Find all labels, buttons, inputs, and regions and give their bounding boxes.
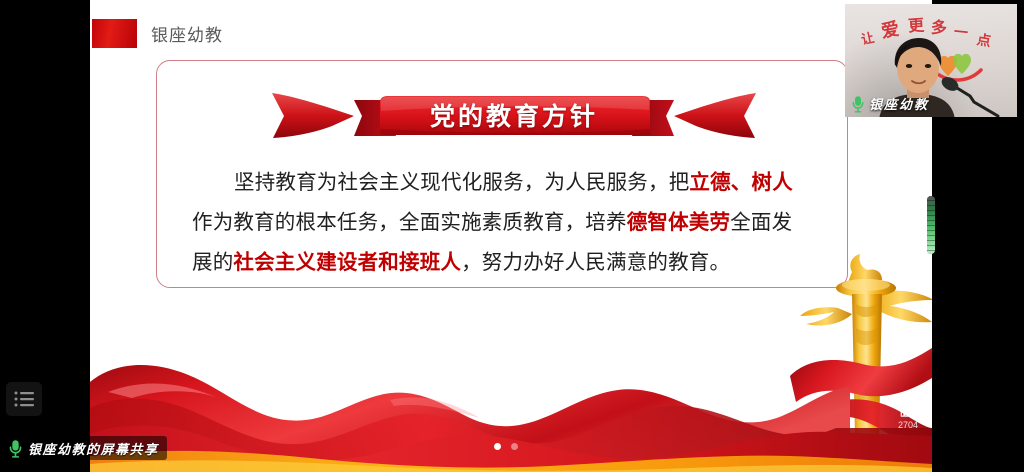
screen-share-viewport: 银座幼教 <box>0 0 1024 472</box>
screen-share-label-text: 银座幼教的屏幕共享 <box>28 439 159 458</box>
participant-video-tile[interactable]: 让 爱 更 多 一 点 <box>845 4 1017 117</box>
slide-body-paragraph: 坚持教育为社会主义现代化服务，为人民服务，把立德、树人作为教育的根本任务，全面实… <box>192 162 812 282</box>
microphone-icon <box>851 95 865 113</box>
participant-name-overlay: 银座幼教 <box>851 94 929 113</box>
slogan-char-4: 多 <box>930 14 947 39</box>
pagination-dots[interactable] <box>494 441 540 451</box>
red-block-logo-icon <box>92 19 137 48</box>
red-ribbon-wave <box>90 365 932 472</box>
stage-microphone-icon <box>940 74 1010 117</box>
body-segment-3: 作为教育的根本任务，全面实施素质教育，培养 <box>192 210 627 234</box>
slide-brand-row: 银座幼教 <box>92 18 223 48</box>
orange-gradient-band <box>90 451 932 472</box>
body-segment-2-highlight: 立德、树人 <box>689 170 793 194</box>
like-count: 2704 <box>885 420 931 431</box>
slide-title: 党的教育方针 <box>270 104 758 129</box>
body-segment-4-highlight: 德智体美劳 <box>627 210 731 234</box>
slogan-char-3: 更 <box>907 11 925 36</box>
list-menu-icon[interactable] <box>6 382 42 416</box>
title-ribbon-banner: 党的教育方针 <box>270 86 758 144</box>
shared-slide: 银座幼教 <box>90 0 932 472</box>
body-segment-7: ，努力办好人民满意的教育。 <box>461 250 730 274</box>
slide-brand-label: 银座幼教 <box>151 21 223 46</box>
like-widget[interactable]: 2704 <box>885 400 931 431</box>
screen-share-label: 银座幼教的屏幕共享 <box>4 436 167 460</box>
red-ribbon-wrap <box>790 348 932 450</box>
pagination-dot-2[interactable] <box>511 443 518 450</box>
audio-level-meter <box>927 196 935 254</box>
thumbs-up-icon[interactable] <box>898 400 918 420</box>
participant-name-text: 银座幼教 <box>869 94 929 113</box>
audio-level-ticks <box>927 196 935 254</box>
list-menu-button[interactable] <box>6 382 42 416</box>
body-segment-1: 坚持教育为社会主义现代化服务，为人民服务，把 <box>234 170 689 194</box>
body-segment-6-highlight: 社会主义建设者和接班人 <box>233 250 461 274</box>
pagination-dot-1[interactable] <box>494 443 501 450</box>
microphone-icon <box>8 439 23 458</box>
